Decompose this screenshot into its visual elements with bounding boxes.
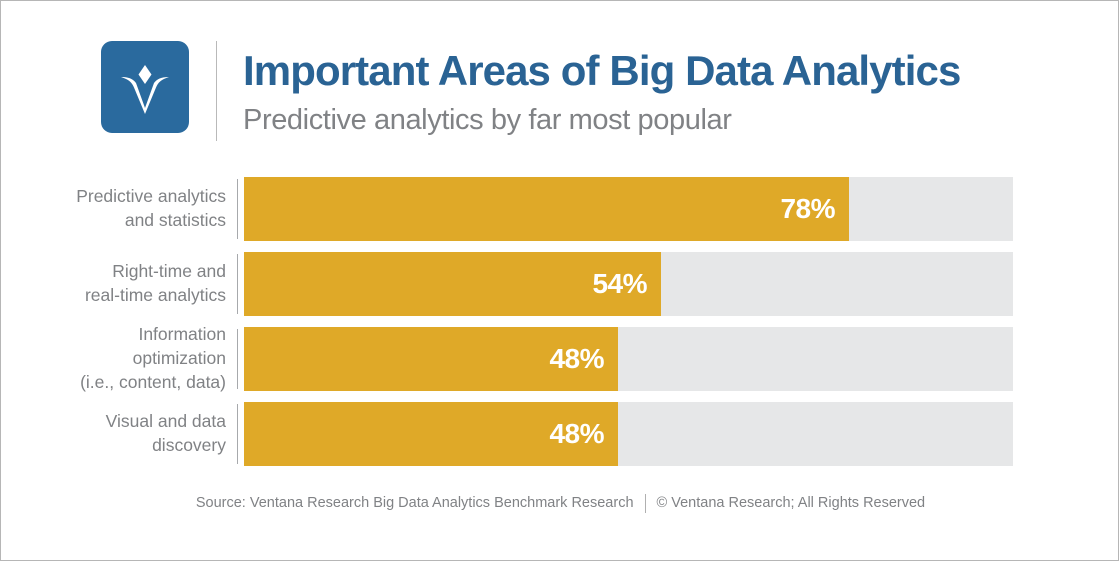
bar-value-label: 78% [780, 195, 849, 223]
bar-value-label: 48% [549, 345, 618, 373]
category-label: Predictive analytics and statistics [1, 177, 230, 241]
axis-tick [237, 329, 238, 389]
category-label-line: and statistics [125, 209, 226, 233]
category-label: Visual and data discovery [1, 402, 230, 466]
bar-fill: 78% [244, 177, 849, 241]
category-label-line: (i.e., content, data) [80, 371, 226, 395]
bar-row: Visual and data discovery 48% [1, 402, 1119, 466]
page-subtitle: Predictive analytics by far most popular [243, 106, 1061, 135]
category-label-line: optimization [133, 347, 226, 371]
bar-row: Information optimization (i.e., content,… [1, 327, 1119, 391]
bar-track: 48% [244, 327, 1013, 391]
bar-track: 78% [244, 177, 1013, 241]
axis-tick [237, 254, 238, 314]
category-label-line: Information [138, 323, 226, 347]
bar-track: 48% [244, 402, 1013, 466]
category-label-line: real-time analytics [85, 284, 226, 308]
category-label: Right-time and real-time analytics [1, 252, 230, 316]
category-label-line: Right-time and [112, 260, 226, 284]
category-label-line: Predictive analytics [76, 185, 226, 209]
bar-fill: 48% [244, 402, 618, 466]
bar-row: Predictive analytics and statistics 78% [1, 177, 1119, 241]
category-label-line: Visual and data [106, 410, 226, 434]
category-label-line: discovery [152, 434, 226, 458]
ventana-research-logo [101, 41, 189, 133]
axis-tick [237, 179, 238, 239]
category-label: Information optimization (i.e., content,… [1, 327, 230, 391]
axis-tick [237, 404, 238, 464]
bar-value-label: 54% [592, 270, 661, 298]
header: Important Areas of Big Data Analytics Pr… [101, 41, 1061, 141]
bar-chart: Predictive analytics and statistics 78% … [1, 171, 1119, 471]
header-text: Important Areas of Big Data Analytics Pr… [243, 41, 1061, 141]
infographic-root: Important Areas of Big Data Analytics Pr… [0, 0, 1119, 561]
page-title: Important Areas of Big Data Analytics [243, 50, 1061, 92]
copyright-note: © Ventana Research; All Rights Reserved [657, 495, 926, 511]
bar-track: 54% [244, 252, 1013, 316]
header-divider [216, 41, 217, 141]
bar-value-label: 48% [549, 420, 618, 448]
bar-fill: 48% [244, 327, 618, 391]
bar-row: Right-time and real-time analytics 54% [1, 252, 1119, 316]
footer: Source: Ventana Research Big Data Analyt… [1, 491, 1119, 515]
source-note: Source: Ventana Research Big Data Analyt… [196, 495, 634, 511]
footer-divider [645, 494, 646, 513]
bar-fill: 54% [244, 252, 661, 316]
